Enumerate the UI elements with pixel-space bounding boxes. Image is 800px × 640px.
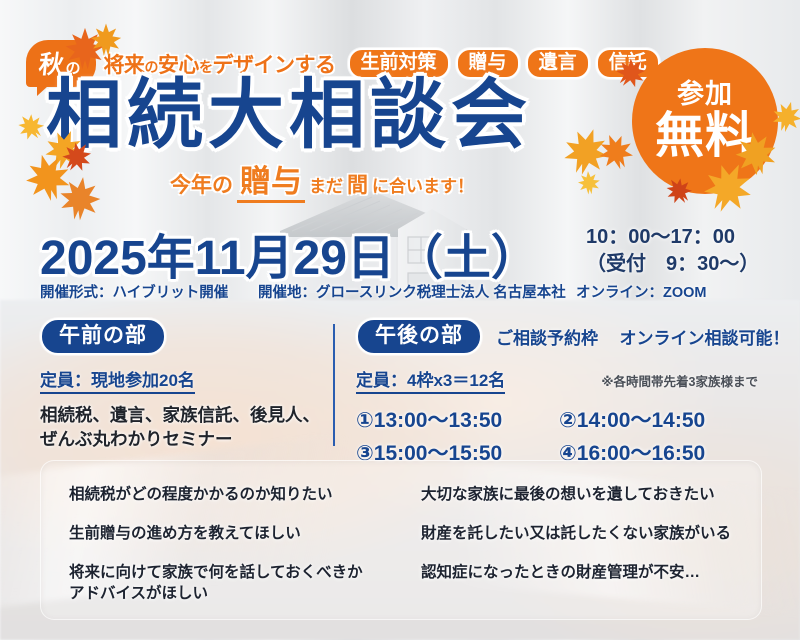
afternoon-heading: ご相談予約枠 オンライン相談可能！ xyxy=(496,324,789,349)
free-badge-line1: 参加 xyxy=(677,81,733,108)
afternoon-capacity-row: 定員：4枠x3＝12名 ※各時間帯先着3家族様まで xyxy=(356,366,764,394)
event-venue: 開催地：グロースリンク税理士法人 名古屋本社 xyxy=(258,281,576,302)
event-time-block: 10：00〜17：00 （受付 9：30〜） xyxy=(586,224,759,278)
morning-capacity: 定員：現地参加20名 xyxy=(40,366,195,394)
event-format: 開催形式：ハイブリット開催 xyxy=(40,281,258,302)
event-date: 2025年11月29日（土） xyxy=(40,218,539,288)
sub-tagline-kanji: 間 xyxy=(347,169,368,199)
concerns-column-left: 相続税がどの程度かかるのか知りたい 生前贈与の進め方を教えてほしい 将来に向けて… xyxy=(69,485,421,605)
afternoon-heading-2: オンライン相談可能！ xyxy=(619,329,789,348)
sessions-section: 午前の部 定員：現地参加20名 相続税、遺言、家族信託、後見人、 ぜんぶ丸わかり… xyxy=(40,318,764,446)
concern-item: 大切な家族に最後の想いを遺しておきたい xyxy=(421,485,751,506)
afternoon-note: ※各時間帯先着3家族様まで xyxy=(601,371,764,390)
morning-description: 相続税、遺言、家族信託、後見人、 ぜんぶ丸わかりセミナー xyxy=(40,403,325,451)
free-badge-line2: 無料 xyxy=(655,112,755,161)
morning-session: 午前の部 定員：現地参加20名 相続税、遺言、家族信託、後見人、 ぜんぶ丸わかり… xyxy=(40,318,325,451)
session-divider xyxy=(333,324,335,446)
concerns-panel: 相続税がどの程度かかるのか知りたい 生前贈与の進め方を教えてほしい 将来に向けて… xyxy=(40,460,762,620)
event-time-reception: （受付 9：30〜） xyxy=(586,251,759,278)
sub-tagline-highlight: 贈与 xyxy=(237,166,305,203)
afternoon-slot-0: ①13:00〜13:50 xyxy=(356,404,559,434)
flyer-root: 秋 の 将来の安心をデザインする 生前対策 贈与 遺言 信託 参加 無料 相続大… xyxy=(0,0,800,640)
page-title: 相続大相談会 xyxy=(46,78,532,154)
morning-description-line1: 相続税、遺言、家族信託、後見人、 xyxy=(40,403,325,427)
sub-tagline: 今年の 贈与 まだ 間 に合います！ xyxy=(170,166,474,203)
afternoon-slot-list: ①13:00〜13:50 ②14:00〜14:50 ③15:00〜15:50 ④… xyxy=(356,404,764,467)
morning-badge: 午前の部 xyxy=(40,318,166,355)
afternoon-header-row: 午後の部 ご相談予約枠 オンライン相談可能！ xyxy=(356,318,764,355)
event-online: オンライン：ZOOM xyxy=(576,281,707,302)
morning-description-line2: ぜんぶ丸わかりセミナー xyxy=(40,427,325,451)
concern-item: 生前贈与の進め方を教えてほしい xyxy=(69,524,421,545)
free-participation-badge: 参加 無料 xyxy=(632,48,778,194)
afternoon-heading-1: ご相談予約枠 xyxy=(496,329,598,348)
event-time-main: 10：00〜17：00 xyxy=(586,224,759,251)
afternoon-capacity: 定員：4枠x3＝12名 xyxy=(356,366,505,394)
sub-tagline-post: に合います！ xyxy=(372,172,474,197)
topic-tag-2: 遺言 xyxy=(526,48,590,79)
concern-item: 財産を託したい又は託したくない家族がいる xyxy=(421,524,751,545)
afternoon-session: 午後の部 ご相談予約枠 オンライン相談可能！ 定員：4枠x3＝12名 ※各時間帯… xyxy=(356,318,764,467)
concerns-column-right: 大切な家族に最後の想いを遺しておきたい 財産を託したい又は託したくない家族がいる… xyxy=(421,485,751,605)
sub-tagline-pre: 今年の xyxy=(170,169,233,199)
concern-item: 相続税がどの程度かかるのか知りたい xyxy=(69,485,421,506)
sub-tagline-mid: まだ xyxy=(309,172,343,197)
concern-item: 認知症になったときの財産管理が不安… xyxy=(421,563,751,584)
concern-item: 将来に向けて家族で何を話しておくべきか アドバイスがほしい xyxy=(69,563,421,605)
afternoon-slot-1: ②14:00〜14:50 xyxy=(559,404,764,434)
afternoon-badge: 午後の部 xyxy=(356,318,482,355)
venue-info-row: 開催形式：ハイブリット開催 開催地：グロースリンク税理士法人 名古屋本社 オンラ… xyxy=(40,281,770,302)
